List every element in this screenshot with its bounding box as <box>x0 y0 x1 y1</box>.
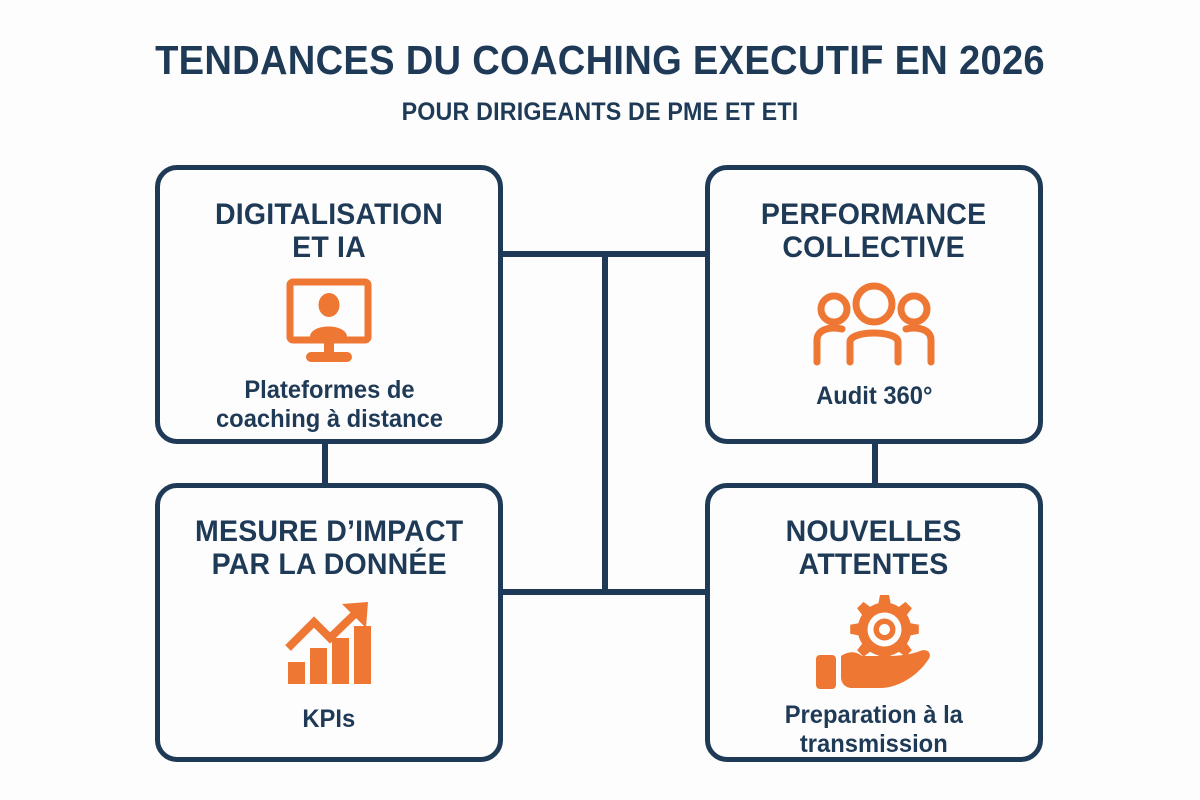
card-digitalisation-et-ia[interactable]: DIGITALISATION ET IA Plateformes de coac… <box>155 165 503 444</box>
card-title: PERFORMANCE COLLECTIVE <box>761 198 986 264</box>
card-caption: KPIs <box>303 705 356 734</box>
growth-bar-chart-icon <box>284 599 374 687</box>
hand-holding-gear-icon <box>812 593 936 691</box>
card-caption: Plateformes de coaching à distance <box>215 376 442 434</box>
card-mesure-dimpact-par-la-donnee[interactable]: MESURE D’IMPACT PAR LA DONNÉE KPIs <box>155 483 503 762</box>
card-title: DIGITALISATION ET IA <box>215 198 443 264</box>
card-title: NOUVELLES ATTENTES <box>786 515 962 581</box>
card-performance-collective[interactable]: PERFORMANCE COLLECTIVE Audit 360° <box>705 165 1043 444</box>
card-nouvelles-attentes[interactable]: NOUVELLES ATTENTES Preparation à la tran… <box>705 483 1043 762</box>
infographic-canvas: TENDANCES DU COACHING EXECUTIF EN 2026 P… <box>0 0 1200 800</box>
card-caption: Preparation à la transmission <box>785 701 963 759</box>
card-title: MESURE D’IMPACT PAR LA DONNÉE <box>195 515 463 581</box>
monitor-person-icon <box>283 276 375 368</box>
card-caption: Audit 360° <box>816 382 932 411</box>
group-people-icon <box>812 280 936 368</box>
